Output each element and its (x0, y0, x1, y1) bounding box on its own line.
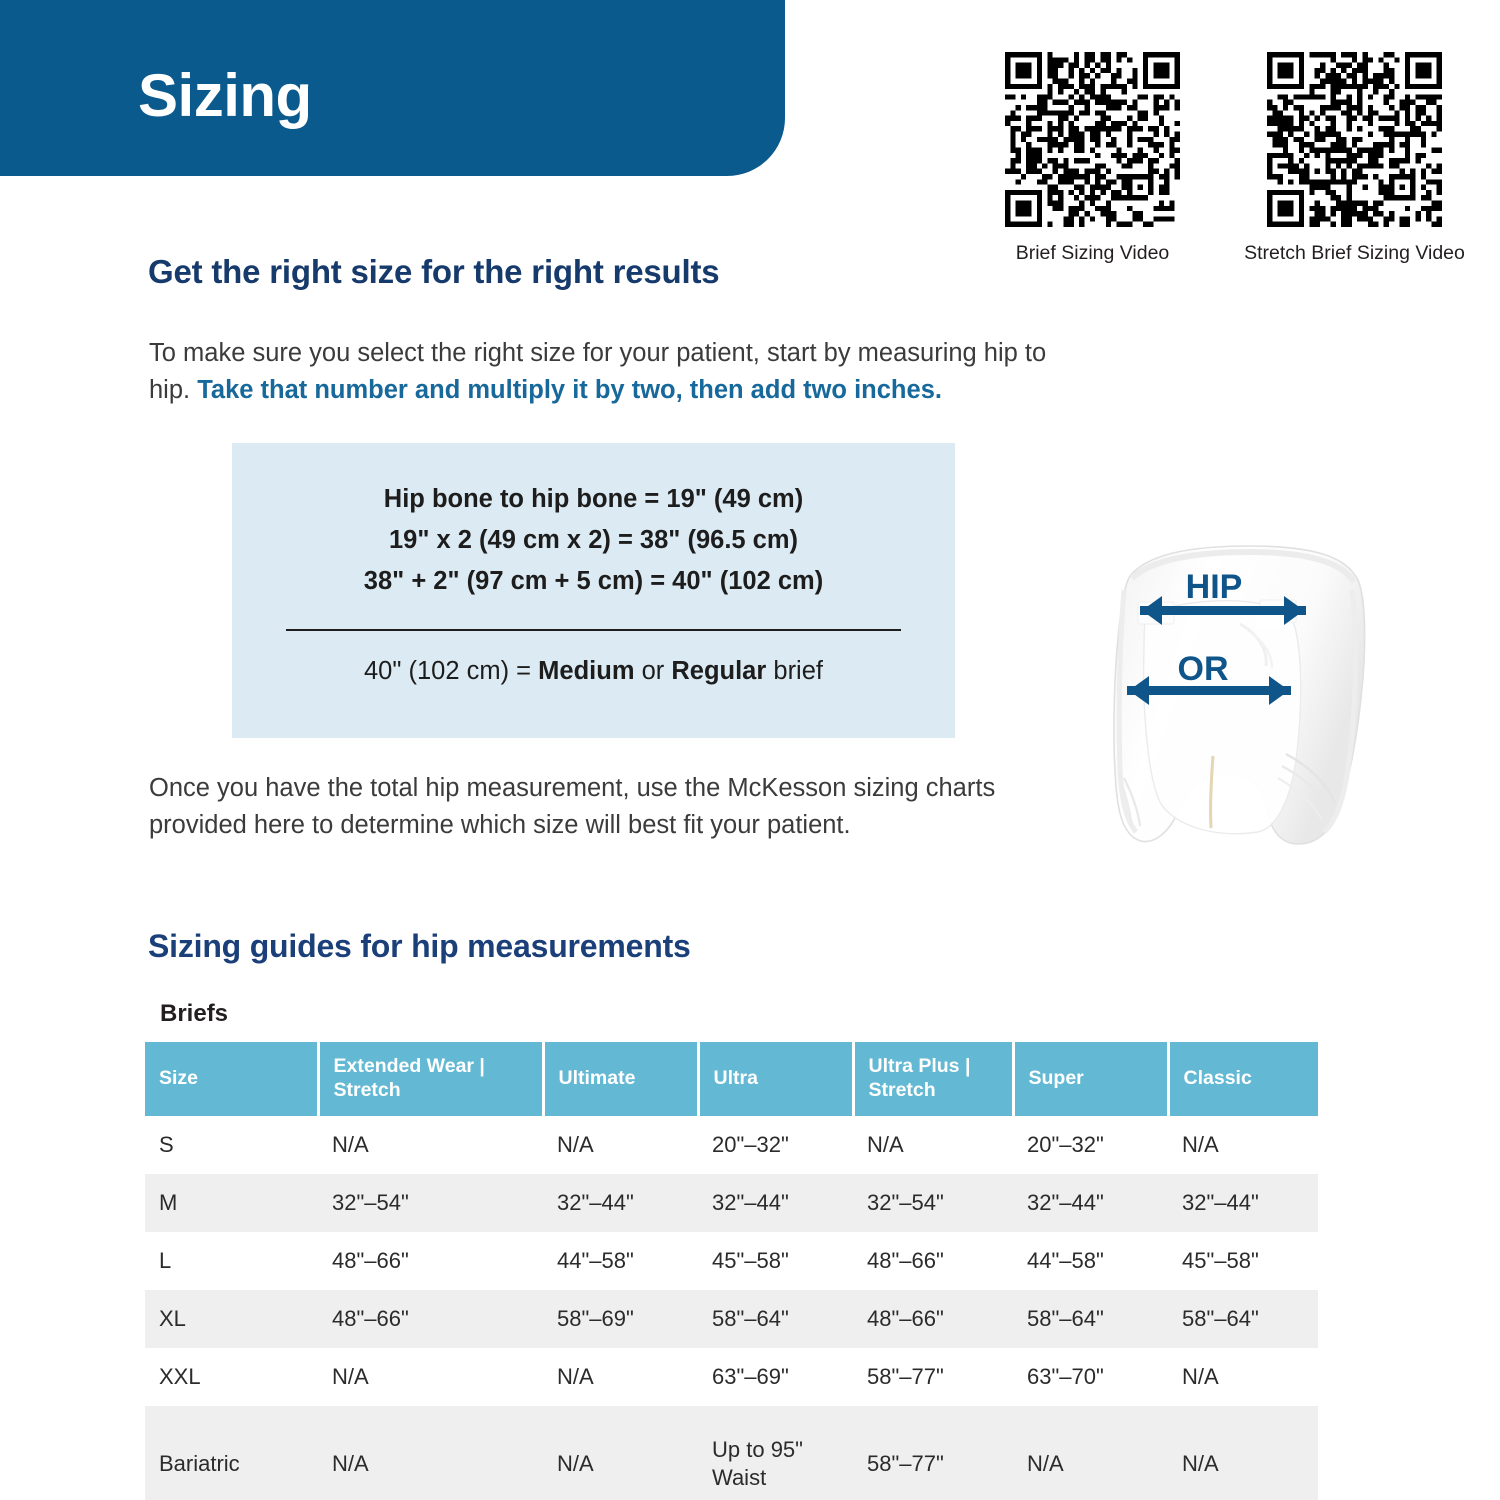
table-column-header-3: Ultra (698, 1042, 853, 1116)
intro-paragraph: To make sure you select the right size f… (149, 335, 1079, 409)
calc-result-suffix: brief (766, 657, 823, 685)
table-cell-measurement: N/A (543, 1116, 698, 1174)
table-column-header-2: Ultimate (543, 1042, 698, 1116)
table-row: L48"–66"44"–58"45"–58"48"–66"44"–58"45"–… (145, 1232, 1318, 1290)
section-heading-get-right-size: Get the right size for the right results (148, 253, 719, 291)
table-cell-size: XXL (145, 1348, 318, 1406)
table-cell-measurement: N/A (1168, 1348, 1318, 1406)
qr-block-stretch-brief-sizing-video[interactable]: Stretch Brief Sizing Video (1222, 52, 1487, 267)
table-header-row: SizeExtended Wear | StretchUltimateUltra… (145, 1042, 1318, 1116)
qr-caption-stretch: Stretch Brief Sizing Video (1222, 241, 1487, 267)
calc-line-2: 19" x 2 (49 cm x 2) = 38" (96.5 cm) (232, 528, 955, 554)
table-cell-size: L (145, 1232, 318, 1290)
table-cell-measurement: 58"–77" (853, 1406, 1013, 1500)
label-hip: HIP (1186, 568, 1243, 606)
table-column-header-6: Classic (1168, 1042, 1318, 1116)
table-body: SN/AN/A20"–32"N/A20"–32"N/AM32"–54"32"–4… (145, 1116, 1318, 1500)
table-cell-measurement: 63"–70" (1013, 1348, 1168, 1406)
table-cell-measurement: 58"–64" (1013, 1290, 1168, 1348)
table-cell-measurement: N/A (1168, 1406, 1318, 1500)
calc-line-3: 38" + 2" (97 cm + 5 cm) = 40" (102 cm) (232, 569, 955, 595)
table-cell-measurement: 58"–77" (853, 1348, 1013, 1406)
followup-paragraph: Once you have the total hip measurement,… (149, 770, 1039, 844)
table-cell-measurement: 45"–58" (1168, 1232, 1318, 1290)
table-cell-measurement: 58"–64" (698, 1290, 853, 1348)
briefs-sizing-table: SizeExtended Wear | StretchUltimateUltra… (145, 1042, 1318, 1500)
table-cell-size: S (145, 1116, 318, 1174)
sizing-page: Sizing Brief Sizing Video Stretch Brief … (0, 0, 1500, 1500)
table-cell-measurement: 20"–32" (1013, 1116, 1168, 1174)
table-cell-measurement: 63"–69" (698, 1348, 853, 1406)
table-row: XXLN/AN/A63"–69"58"–77"63"–70"N/A (145, 1348, 1318, 1406)
table-cell-measurement: 32"–54" (853, 1174, 1013, 1232)
table-cell-measurement: 45"–58" (698, 1232, 853, 1290)
table-cell-measurement: Up to 95" Waist (698, 1406, 853, 1500)
table-cell-measurement: N/A (543, 1348, 698, 1406)
table-cell-measurement: 48"–66" (853, 1290, 1013, 1348)
table-column-header-5: Super (1013, 1042, 1168, 1116)
calc-result-size-regular: Regular (671, 657, 766, 685)
table-column-header-1: Extended Wear | Stretch (318, 1042, 543, 1116)
qr-caption-brief: Brief Sizing Video (960, 241, 1225, 267)
table-cell-measurement: 58"–64" (1168, 1290, 1318, 1348)
table-cell-measurement: 48"–66" (318, 1290, 543, 1348)
table-cell-measurement: N/A (853, 1116, 1013, 1174)
calc-result-line: 40" (102 cm) = Medium or Regular brief (232, 659, 955, 685)
table-cell-measurement: 48"–66" (853, 1232, 1013, 1290)
product-brief-illustration: HIP OR (1090, 528, 1420, 898)
table-row: M32"–54"32"–44"32"–44"32"–54"32"–44"32"–… (145, 1174, 1318, 1232)
table-label-briefs: Briefs (160, 1000, 228, 1028)
table-cell-measurement: 32"–44" (1013, 1174, 1168, 1232)
table-cell-size: M (145, 1174, 318, 1232)
table-cell-measurement: 20"–32" (698, 1116, 853, 1174)
table-row: BariatricN/AN/AUp to 95" Waist58"–77"N/A… (145, 1406, 1318, 1500)
table-cell-measurement: 48"–66" (318, 1232, 543, 1290)
calc-result-prefix: 40" (102 cm) = (364, 657, 538, 685)
table-row: SN/AN/A20"–32"N/A20"–32"N/A (145, 1116, 1318, 1174)
table-cell-measurement: 58"–69" (543, 1290, 698, 1348)
qr-code-icon[interactable] (1005, 52, 1180, 227)
sizing-table-wrapper: SizeExtended Wear | StretchUltimateUltra… (145, 1042, 1318, 1500)
table-cell-measurement: N/A (318, 1406, 543, 1500)
table-cell-measurement: 32"–44" (543, 1174, 698, 1232)
table-cell-measurement: N/A (543, 1406, 698, 1500)
table-cell-measurement: N/A (318, 1348, 543, 1406)
page-title: Sizing (138, 66, 312, 126)
calc-divider (286, 629, 901, 631)
table-cell-measurement: N/A (318, 1116, 543, 1174)
header-banner (0, 0, 785, 176)
table-cell-measurement: 32"–54" (318, 1174, 543, 1232)
table-cell-measurement: 32"–44" (698, 1174, 853, 1232)
calc-result-size-medium: Medium (538, 657, 634, 685)
table-cell-size: Bariatric (145, 1406, 318, 1500)
table-column-header-0: Size (145, 1042, 318, 1116)
calc-line-1: Hip bone to hip bone = 19" (49 cm) (232, 487, 955, 513)
label-or: OR (1178, 650, 1229, 688)
table-head: SizeExtended Wear | StretchUltimateUltra… (145, 1042, 1318, 1116)
table-column-header-4: Ultra Plus | Stretch (853, 1042, 1013, 1116)
qr-code-icon[interactable] (1267, 52, 1442, 227)
section-heading-sizing-guides: Sizing guides for hip measurements (148, 928, 691, 965)
calc-result-conjunction: or (635, 657, 672, 685)
calculation-example-box: Hip bone to hip bone = 19" (49 cm) 19" x… (232, 443, 955, 738)
table-cell-measurement: N/A (1013, 1406, 1168, 1500)
table-cell-size: XL (145, 1290, 318, 1348)
intro-paragraph-accent: Take that number and multiply it by two,… (197, 376, 942, 404)
table-cell-measurement: 44"–58" (1013, 1232, 1168, 1290)
table-cell-measurement: 44"–58" (543, 1232, 698, 1290)
qr-block-brief-sizing-video[interactable]: Brief Sizing Video (960, 52, 1225, 267)
table-cell-measurement: N/A (1168, 1116, 1318, 1174)
table-row: XL48"–66"58"–69"58"–64"48"–66"58"–64"58"… (145, 1290, 1318, 1348)
table-cell-measurement: 32"–44" (1168, 1174, 1318, 1232)
